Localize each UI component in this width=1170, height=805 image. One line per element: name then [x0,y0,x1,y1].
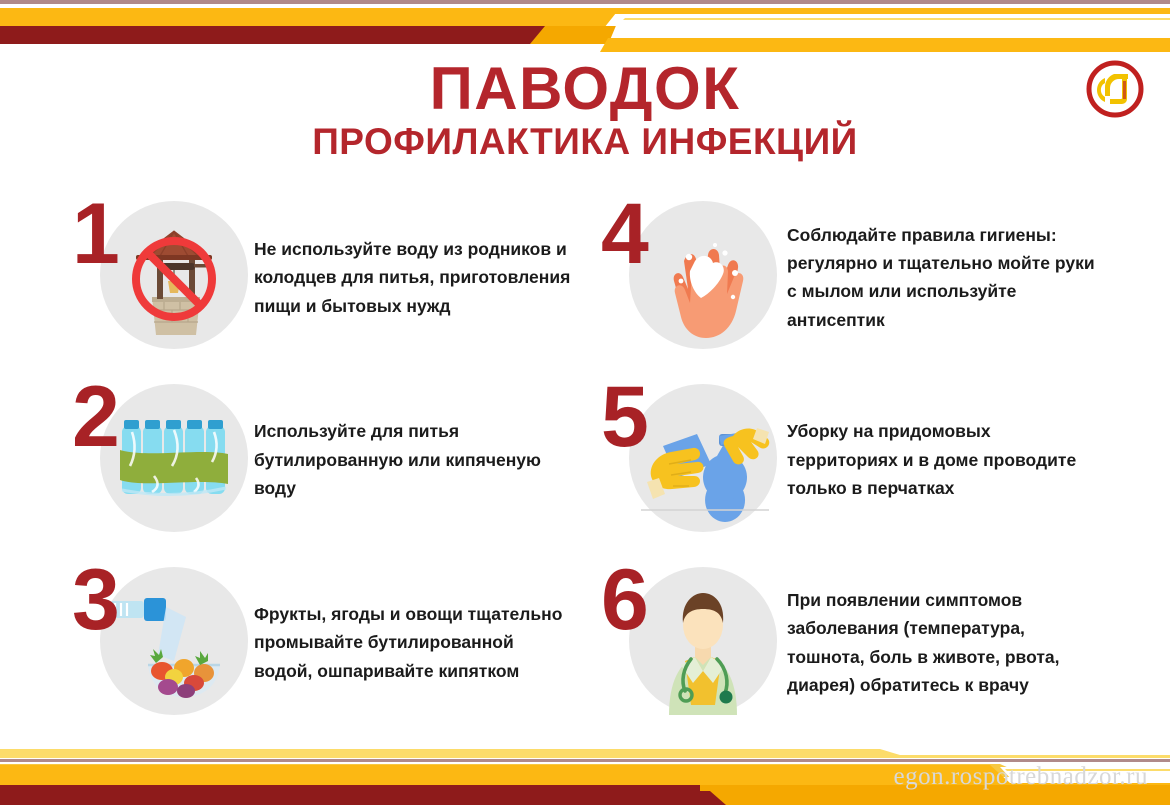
tip-text-4: Соблюдайте правила гигиены: регулярно и … [787,221,1099,334]
cleaning-gloves-spray-icon [629,384,777,532]
tip-badge-4: 4 [601,197,761,357]
tip-number-1: 1 [72,191,120,277]
tip-text-1: Не используйте воду из родников и колодц… [254,235,574,320]
page-subtitle: ПРОФИЛАКТИКА ИНФЕКЦИЙ [0,119,1170,162]
tip-text-3: Фрукты, ягоды и овощи тщательно промывай… [254,600,574,685]
tip-number-6: 6 [601,557,649,643]
tips-grid: 1 [0,186,1170,734]
tip-text-5: Уборку на придомовых территориях и в дом… [787,417,1099,502]
infographic-poster: ПАВОДОК ПРОФИЛАКТИКА ИНФЕКЦИЙ 1 [0,0,1170,805]
tip-number-2: 2 [72,374,120,460]
source-watermark: egon.rospotrebnadzor.ru [894,763,1148,791]
tip-item-5: 5 [585,369,1170,552]
tip-badge-1: 1 [72,197,232,357]
page-title: ПАВОДОК [0,52,1170,119]
bottled-water-pack-icon [100,384,248,532]
tip-text-2: Используйте для питья бутилированную или… [254,417,574,502]
doctor-icon [629,567,777,715]
washing-fruit-bowl-icon [100,567,248,715]
top-decoration-band [0,0,1170,52]
tip-item-3: 3 [0,551,585,734]
tip-number-3: 3 [72,557,120,643]
tip-badge-5: 5 [601,380,761,540]
tip-item-1: 1 [0,186,585,369]
well-prohibited-icon [100,201,248,349]
tip-badge-2: 2 [72,380,232,540]
washing-hands-icon [629,201,777,349]
tip-item-6: 6 [585,551,1170,734]
tip-item-2: 2 [0,369,585,552]
tip-item-4: 4 [585,186,1170,369]
poster-header: ПАВОДОК ПРОФИЛАКТИКА ИНФЕКЦИЙ [0,52,1170,182]
tip-number-5: 5 [601,374,649,460]
rospotrebnadzor-logo [1084,58,1146,120]
tip-badge-3: 3 [72,563,232,723]
tip-number-4: 4 [601,191,649,277]
tip-text-6: При появлении симптомов заболевания (тем… [787,586,1099,699]
tip-badge-6: 6 [601,563,761,723]
